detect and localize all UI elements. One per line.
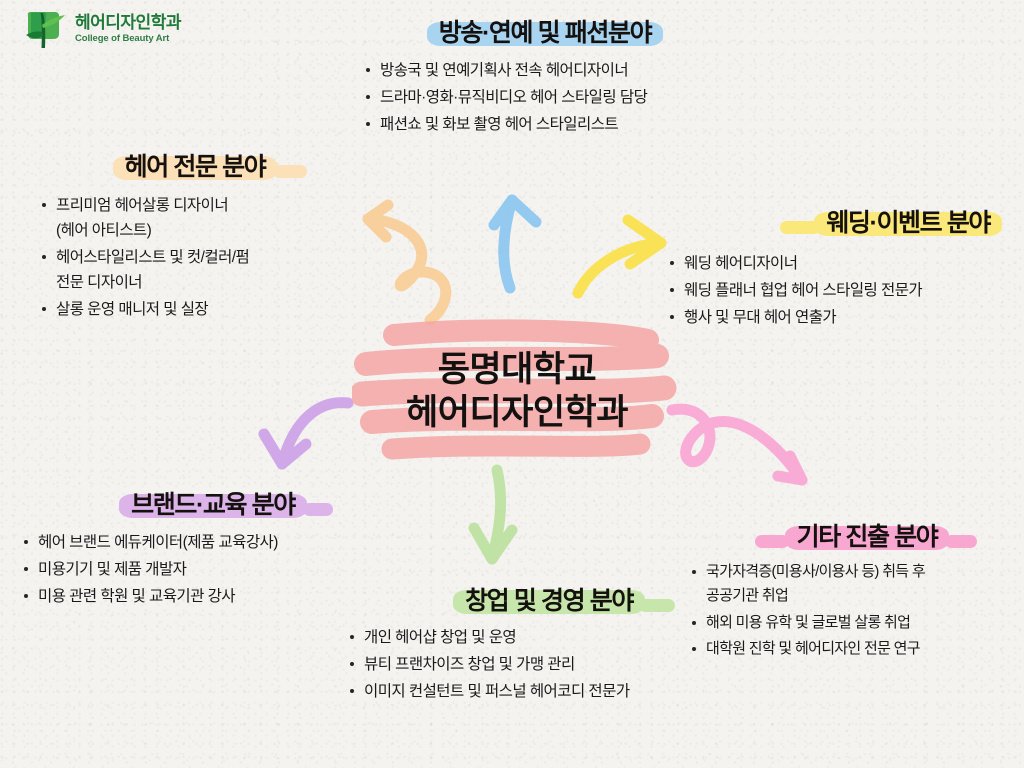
list-item: 미용기기 및 제품 개발자	[22, 557, 388, 582]
section-broadcast-heading-text: 방송·연예 및 패션분야	[439, 19, 651, 47]
section-hair-heading: 헤어 전문 분야	[113, 152, 278, 182]
list-item: 헤어스타일리스트 및 컷/컬러/펌 전문 디자이너	[40, 245, 370, 295]
list-item: 프리미엄 헤어살롱 디자이너 (헤어 아티스트)	[40, 193, 370, 243]
list-item: 해외 미용 유학 및 글로벌 살롱 취업	[690, 611, 1024, 635]
arrow-to-startup	[474, 470, 512, 559]
list-item: 이미지 컨설턴트 및 퍼스널 헤어코디 전문가	[348, 679, 750, 704]
section-etc-list: 국가자격증(미용사/이용사 등) 취득 후 공공기관 취업 해외 미용 유학 및…	[690, 560, 1024, 661]
section-etc-heading: 기타 진출 분야	[785, 522, 950, 552]
list-item: 국가자격증(미용사/이용사 등) 취득 후 공공기관 취업	[690, 560, 1024, 609]
center-title: 동명대학교 헤어디자인학과	[352, 318, 682, 466]
section-broadcast-heading: 방송·연예 및 패션분야	[427, 18, 663, 48]
list-item: 살롱 운영 매니저 및 실장	[40, 297, 370, 322]
list-item: 웨딩 헤어디자이너	[668, 251, 1024, 276]
section-wedding-heading: 웨딩·이벤트 분야	[814, 208, 1002, 238]
section-broadcast-list: 방송국 및 연예기획사 전속 헤어디자이너 드라마·영화·뮤직비디오 헤어 스타…	[364, 58, 760, 137]
section-hair: 헤어 전문 분야 프리미엄 헤어살롱 디자이너 (헤어 아티스트) 헤어스타일리…	[20, 152, 370, 325]
list-item: 웨딩 플래너 협업 헤어 스타일링 전문가	[668, 278, 1024, 303]
arrow-to-hair	[368, 205, 446, 320]
section-hair-list: 프리미엄 헤어살롱 디자이너 (헤어 아티스트) 헤어스타일리스트 및 컷/컬러…	[40, 193, 370, 323]
section-wedding-list: 웨딩 헤어디자이너 웨딩 플래너 협업 헤어 스타일링 전문가 행사 및 무대 …	[668, 251, 1024, 330]
section-wedding-heading-text: 웨딩·이벤트 분야	[826, 209, 990, 237]
section-broadcast: 방송·연예 및 패션분야 방송국 및 연예기획사 전속 헤어디자이너 드라마·영…	[330, 18, 760, 139]
list-item: 패션쇼 및 화보 촬영 헤어 스타일리스트	[364, 112, 760, 137]
section-brand-heading-text: 브랜드·교육 분야	[131, 491, 295, 519]
section-hair-heading-text: 헤어 전문 분야	[125, 153, 266, 181]
department-logo: 헤어디자인학과 College of Beauty Art	[22, 8, 181, 50]
list-item: 방송국 및 연예기획사 전속 헤어디자이너	[364, 58, 760, 83]
section-startup-heading-text: 창업 및 경영 분야	[465, 587, 633, 615]
section-wedding: 웨딩·이벤트 분야 웨딩 헤어디자이너 웨딩 플래너 협업 헤어 스타일링 전문…	[650, 208, 1024, 332]
list-item: 대학원 진학 및 헤어디자인 전문 연구	[690, 637, 1024, 661]
section-brand-heading: 브랜드·교육 분야	[119, 490, 307, 520]
green-leaf-logo-icon	[22, 8, 68, 50]
list-item: 드라마·영화·뮤직비디오 헤어 스타일링 담당	[364, 85, 760, 110]
arrow-to-broadcast	[494, 200, 536, 288]
arrow-to-wedding	[578, 220, 661, 293]
logo-name-ko: 헤어디자인학과	[75, 14, 181, 31]
list-item: 헤어 브랜드 에듀케이터(제품 교육강사)	[22, 530, 388, 555]
section-etc-heading-text: 기타 진출 분야	[797, 523, 938, 551]
list-item: 행사 및 무대 헤어 연출가	[668, 305, 1024, 330]
section-etc: 기타 진출 분야 국가자격증(미용사/이용사 등) 취득 후 공공기관 취업 해…	[682, 522, 1024, 663]
center-title-text: 동명대학교 헤어디자인학과	[406, 349, 628, 434]
arrow-to-etc	[672, 409, 802, 480]
logo-name-en: College of Beauty Art	[75, 34, 181, 44]
arrow-to-brand	[264, 403, 348, 464]
section-startup-heading: 창업 및 경영 분야	[453, 586, 645, 616]
